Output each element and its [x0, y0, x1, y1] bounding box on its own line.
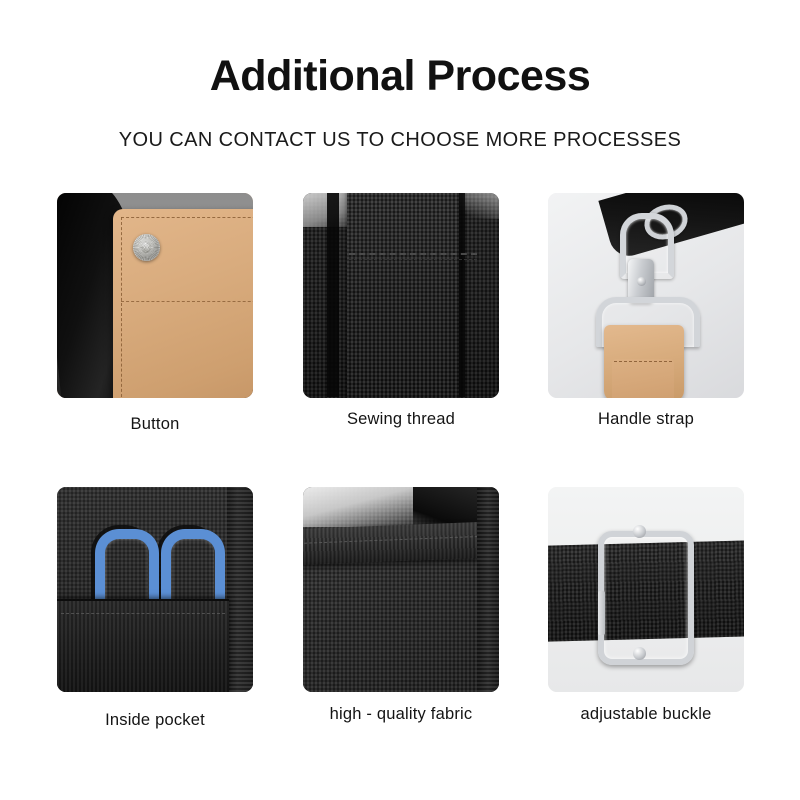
side-panel-webbing	[227, 487, 253, 692]
grid-item-adjustable-buckle[interactable]: adjustable buckle	[548, 487, 744, 692]
buckle-center-bar	[598, 591, 605, 635]
canvas-fabric-weave-closeup-image[interactable]	[303, 487, 499, 692]
rectangular-slider-buckle-image[interactable]	[548, 487, 744, 692]
caption-adjustable-buckle: adjustable buckle	[536, 705, 756, 724]
tan-leather-panel	[113, 209, 253, 398]
grid-item-handle-strap[interactable]: Handle strap	[548, 193, 744, 398]
caption-high-quality-fabric: high - quality fabric	[291, 705, 511, 724]
stitch-line-middle	[121, 301, 253, 302]
folded-hem-band	[303, 521, 499, 565]
grid-item-high-quality-fabric[interactable]: high - quality fabric	[303, 487, 499, 692]
side-edge-webbing	[477, 487, 499, 692]
caption-sewing-thread: Sewing thread	[291, 410, 511, 429]
process-grid: Button Sewing thread	[0, 0, 800, 800]
leather-panel-with-snap-button-image[interactable]	[57, 193, 253, 398]
grid-item-sewing-thread[interactable]: Sewing thread	[303, 193, 499, 398]
stitch-line-pocket	[61, 613, 225, 614]
buckle-nub-bottom	[633, 647, 646, 660]
grid-item-inside-pocket[interactable]: Inside pocket	[57, 487, 253, 692]
blue-hook-right-icon	[161, 529, 225, 607]
stitch-line-secondary	[349, 259, 477, 260]
center-webbing-band	[347, 193, 459, 398]
leather-tab-inner-panel	[612, 359, 674, 398]
stitch-line-vertical	[121, 217, 122, 398]
snap-button-ridges	[133, 234, 160, 261]
caption-inside-pocket: Inside pocket	[45, 711, 265, 730]
stitch-line-primary	[349, 253, 477, 255]
inside-pocket-with-blue-hooks-image[interactable]	[57, 487, 253, 692]
rectangular-buckle-icon	[598, 531, 694, 665]
stitch-line-top	[121, 217, 253, 218]
black-webbing-stitch-detail-image[interactable]	[303, 193, 499, 398]
caption-handle-strap: Handle strap	[536, 410, 756, 429]
lobster-clasp-hardware-image[interactable]	[548, 193, 744, 398]
blue-hook-left-icon	[95, 529, 159, 607]
grid-item-button[interactable]: Button	[57, 193, 253, 398]
buckle-nub-top	[633, 525, 646, 538]
stitch-line-tab	[614, 361, 672, 362]
infographic-page: Additional Process YOU CAN CONTACT US TO…	[0, 0, 800, 800]
clasp-rivet	[637, 277, 646, 286]
caption-button: Button	[45, 415, 265, 434]
strap-gap-left	[327, 193, 339, 397]
